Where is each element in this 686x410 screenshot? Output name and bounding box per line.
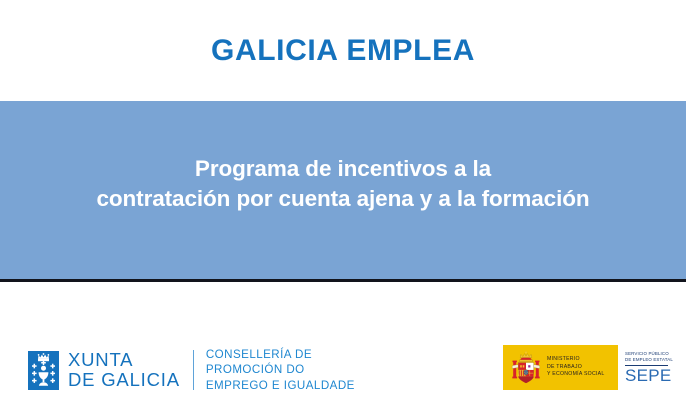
banner-line-2: contratación por cuenta ajena y a la for… [23,184,663,214]
logo-divider [193,350,194,390]
xunta-word-2: DE GALICIA [68,370,180,390]
poster-page: GALICIA EMPLEA Programa de incentivos a … [0,0,686,410]
ministerio-line-1: MINISTERIO [547,356,604,363]
xunta-wordmark: XUNTA DE GALICIA [68,350,180,390]
page-title: GALICIA EMPLEA [211,36,475,66]
conselleria-line-1: CONSELLERÍA DE [206,347,355,362]
xunta-de-galicia-logo: XUNTA DE GALICIA CONSELLERÍA DE PROMOCIÓ… [28,347,355,393]
xunta-coat-of-arms-icon [28,351,59,390]
conselleria-line-2: PROMOCIÓN DO [206,362,355,377]
sepe-logo: SERVICIO PÚBLICO DE EMPLEO ESTATAL SEPE [618,345,686,390]
title-zone: GALICIA EMPLEA [0,0,686,101]
sepe-subtitle: SERVICIO PÚBLICO DE EMPLEO ESTATAL [625,351,673,364]
sepe-acronym: SEPE [625,367,672,384]
conselleria-line-3: EMPREGO E IGUALDADE [206,378,355,393]
banner-text: Programa de incentivos a la contratación… [23,154,663,226]
ministerio-de-trabajo-logo: MINISTERIO DE TRABAJO Y ECONOMÍA SOCIAL [503,345,618,390]
footer-logo-strip: XUNTA DE GALICIA CONSELLERÍA DE PROMOCIÓ… [0,284,686,410]
conselleria-label: CONSELLERÍA DE PROMOCIÓN DO EMPREGO E IG… [206,347,355,393]
sepe-subtitle-line-2: DE EMPLEO ESTATAL [625,357,673,363]
ministerio-line-3: Y ECONOMÍA SOCIAL [547,371,604,378]
spain-coat-of-arms-icon [511,351,541,385]
program-banner: Programa de incentivos a la contratación… [0,101,686,282]
ministerio-label: MINISTERIO DE TRABAJO Y ECONOMÍA SOCIAL [547,356,604,378]
banner-line-1: Programa de incentivos a la [23,154,663,184]
xunta-word-1: XUNTA [68,350,180,370]
